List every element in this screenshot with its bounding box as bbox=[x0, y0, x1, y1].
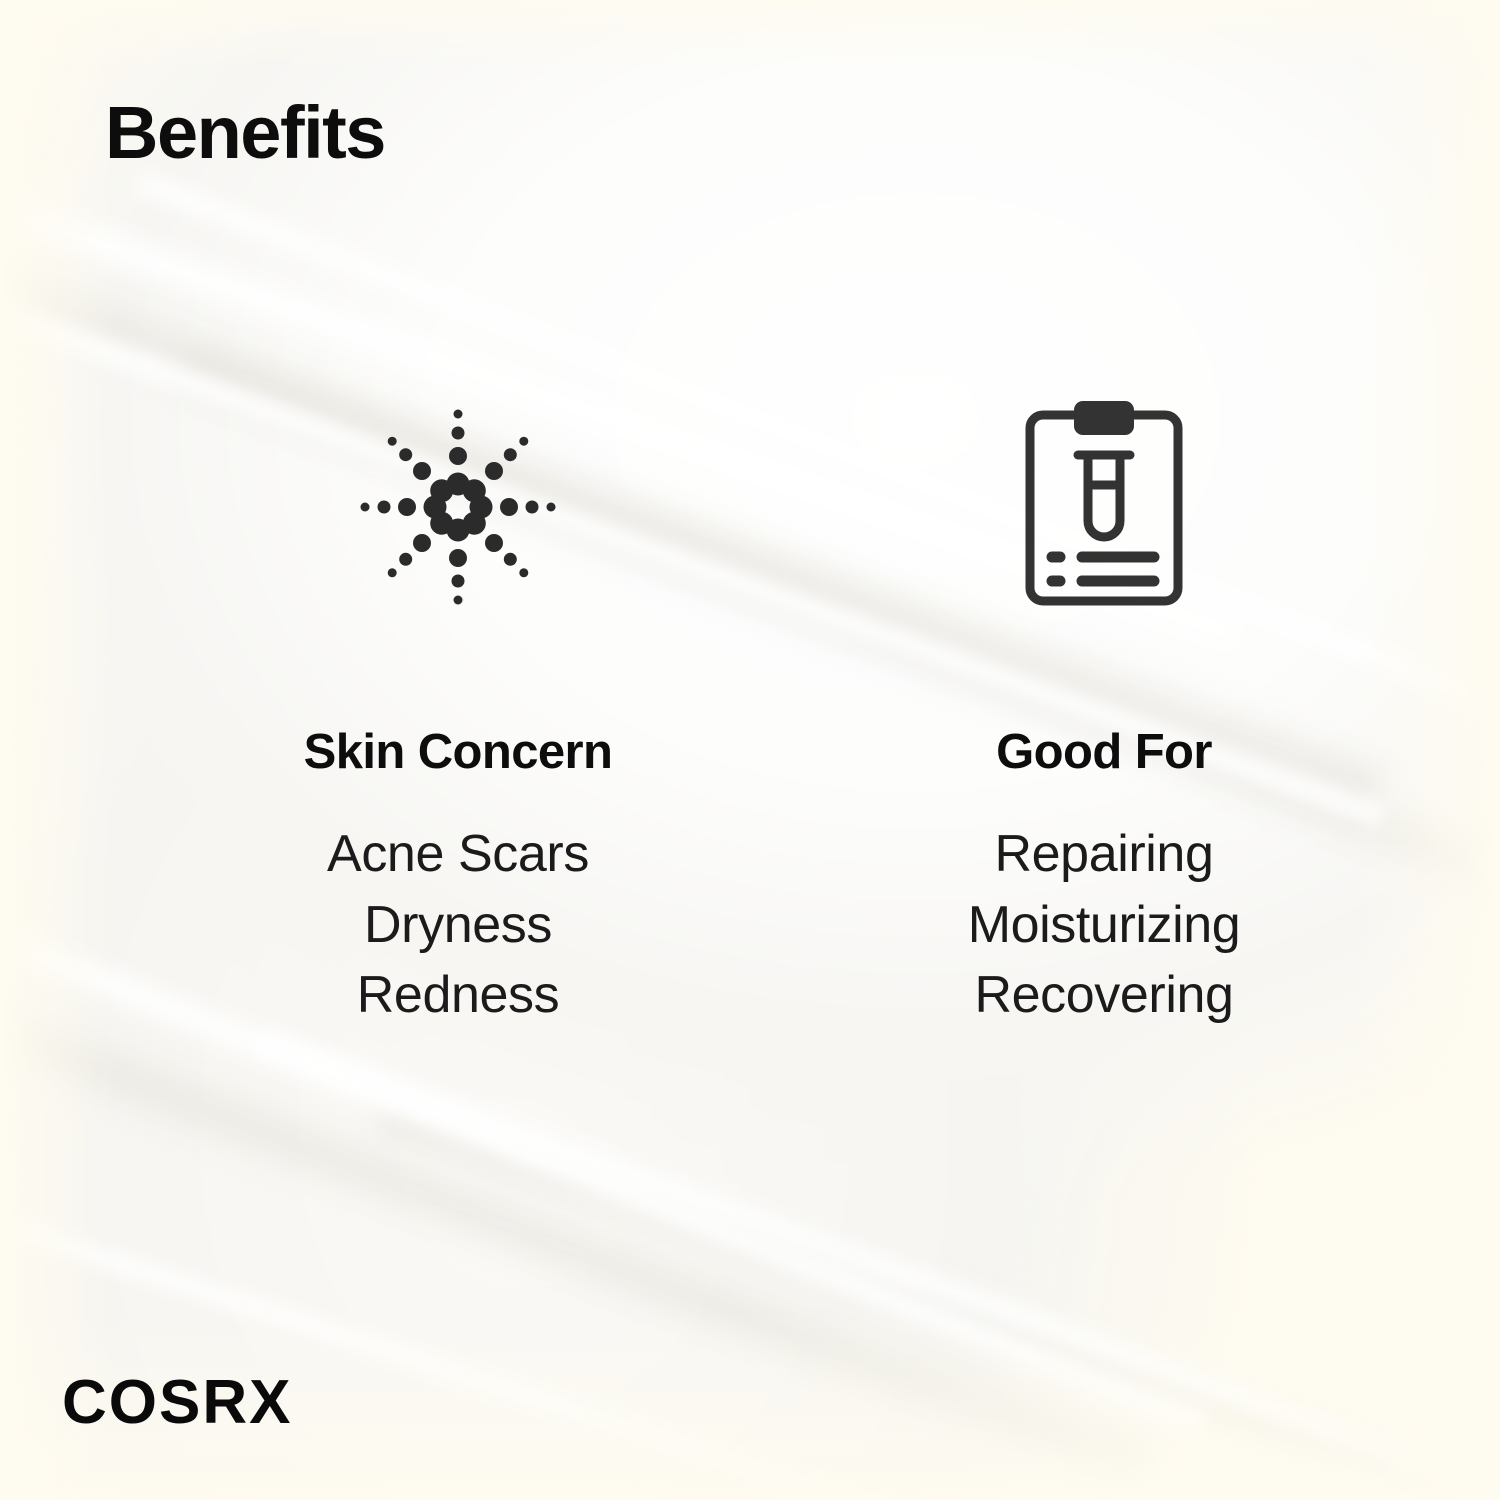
list-item: Repairing bbox=[968, 819, 1241, 890]
infographic-stage: Benefits bbox=[0, 0, 1500, 1500]
page-title: Benefits bbox=[105, 96, 385, 170]
starburst-dots-icon bbox=[343, 382, 573, 632]
brand-logo: COSRX bbox=[62, 1372, 292, 1434]
list-item: Moisturizing bbox=[968, 890, 1241, 961]
list-item: Recovering bbox=[968, 960, 1241, 1031]
column-heading: Skin Concern bbox=[304, 728, 613, 777]
benefit-column-good-for: Good For Repairing Moisturizing Recoveri… bbox=[824, 382, 1384, 1031]
list-item: Redness bbox=[327, 960, 589, 1031]
benefit-list: Repairing Moisturizing Recovering bbox=[968, 819, 1241, 1031]
benefits-columns: Skin Concern Acne Scars Dryness Redness bbox=[0, 382, 1500, 1031]
benefit-list: Acne Scars Dryness Redness bbox=[327, 819, 589, 1031]
clipboard-test-tube-icon bbox=[1016, 382, 1192, 632]
benefit-column-skin-concern: Skin Concern Acne Scars Dryness Redness bbox=[108, 382, 808, 1031]
column-heading: Good For bbox=[996, 728, 1212, 777]
list-item: Acne Scars bbox=[327, 819, 589, 890]
list-item: Dryness bbox=[327, 890, 589, 961]
